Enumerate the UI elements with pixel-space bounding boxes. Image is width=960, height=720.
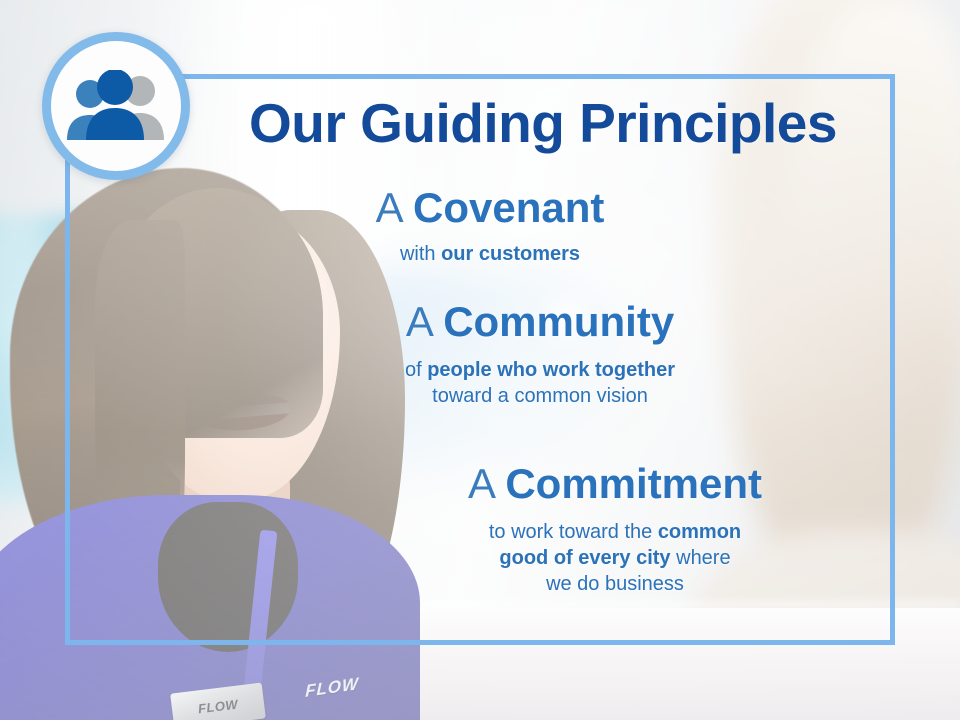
detail-prefix-1: with	[400, 243, 441, 265]
detail-suffix-3: where	[671, 547, 731, 569]
detail-bold-2: people who work together	[427, 359, 675, 381]
principle-community: A Community of people who work together …	[300, 300, 780, 409]
detail-line2-2: toward a common vision	[432, 385, 648, 407]
keyword-covenant: Covenant	[413, 184, 604, 231]
article-2: A	[406, 298, 432, 345]
principle-community-headline: A Community	[300, 300, 780, 345]
keyword-community: Community	[443, 298, 674, 345]
detail-prefix-3: to work toward the	[489, 521, 658, 543]
detail-bold2-3: good of every city	[499, 547, 670, 569]
detail-prefix-2: of	[405, 359, 427, 381]
principle-commitment-headline: A Commitment	[360, 462, 870, 507]
principle-covenant: A Covenant with our customers	[250, 186, 730, 267]
page-title: Our Guiding Principles	[218, 96, 868, 151]
text-layer: Our Guiding Principles A Covenant with o…	[0, 0, 960, 720]
principle-covenant-headline: A Covenant	[250, 186, 730, 231]
guiding-principles-graphic: FLOW FLOW	[0, 0, 960, 720]
principle-commitment: A Commitment to work toward the common g…	[360, 462, 870, 598]
detail-bold-3: common	[658, 521, 741, 543]
detail-bold-1: our customers	[441, 243, 580, 265]
article-3: A	[468, 460, 494, 507]
keyword-commitment: Commitment	[505, 460, 762, 507]
principle-commitment-detail: to work toward the common good of every …	[360, 519, 870, 598]
detail-line3-3: we do business	[546, 573, 684, 595]
principle-community-detail: of people who work together toward a com…	[300, 357, 780, 410]
article-1: A	[376, 184, 402, 231]
principle-covenant-detail: with our customers	[250, 241, 730, 267]
